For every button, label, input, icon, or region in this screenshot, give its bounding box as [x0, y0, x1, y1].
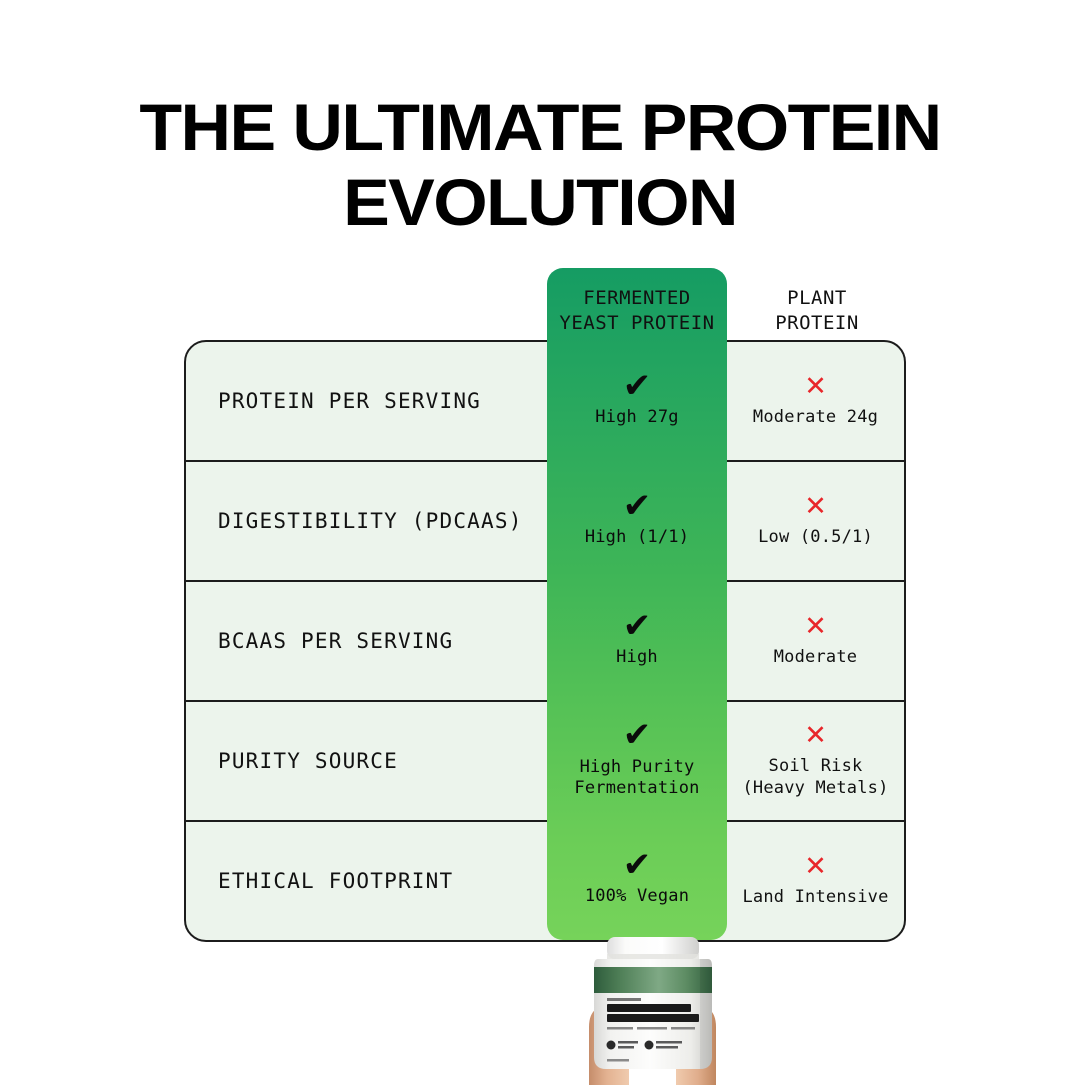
page-title: THE ULTIMATE PROTEIN EVOLUTION: [0, 96, 1080, 233]
featured-column-cells: ✔ High 27g ✔ High (1/1) ✔ High ✔ High Pu…: [547, 340, 727, 940]
featured-column-highlight: ✔ High 27g ✔ High (1/1) ✔ High ✔ High Pu…: [547, 268, 727, 940]
table-row: DIGESTIBILITY (PDCAAS) ✕ Low (0.5/1): [186, 462, 904, 582]
featured-value: High: [616, 647, 658, 669]
table-row: PURITY SOURCE ✕ Soil Risk (Heavy Metals): [186, 702, 904, 822]
check-icon: ✔: [623, 720, 652, 751]
table-row: PROTEIN PER SERVING ✕ Moderate 24g: [186, 342, 904, 462]
featured-value: 100% Vegan: [585, 886, 689, 908]
compare-cell: ✕ Moderate: [727, 582, 904, 700]
product-bottle-in-hands-illustration: [545, 935, 760, 1085]
compare-value: Moderate 24g: [753, 407, 878, 429]
compare-value: Low (0.5/1): [758, 527, 873, 549]
featured-value: High Purity Fermentation: [574, 757, 699, 801]
cross-icon: ✕: [804, 722, 827, 749]
check-icon: ✔: [623, 611, 652, 642]
row-label: ETHICAL FOOTPRINT: [186, 822, 547, 940]
cross-icon: ✕: [804, 853, 827, 880]
row-label: BCAAS PER SERVING: [186, 582, 547, 700]
row-label: PURITY SOURCE: [186, 702, 547, 820]
column-header-plant-protein: PLANT PROTEIN: [727, 286, 907, 336]
bottle-green-band: [594, 967, 712, 993]
cross-icon: ✕: [804, 373, 827, 400]
featured-cell: ✔ High: [547, 580, 727, 700]
compare-cell: ✕ Low (0.5/1): [727, 462, 904, 580]
featured-cell: ✔ 100% Vegan: [547, 820, 727, 938]
check-icon: ✔: [623, 850, 652, 881]
featured-cell: ✔ High (1/1): [547, 460, 727, 580]
compare-value: Land Intensive: [742, 887, 888, 909]
bottle-label-line-1: [607, 1004, 691, 1012]
compare-cell: ✕ Moderate 24g: [727, 342, 904, 460]
product-image: [545, 935, 760, 1085]
compare-value: Soil Risk (Heavy Metals): [742, 756, 888, 800]
featured-value: High (1/1): [585, 527, 689, 549]
compare-cell: ✕ Land Intensive: [727, 822, 904, 940]
cross-icon: ✕: [804, 493, 827, 520]
featured-cell: ✔ High 27g: [547, 340, 727, 460]
comparison-table: PROTEIN PER SERVING ✕ Moderate 24g DIGES…: [184, 340, 906, 942]
column-header-fermented-yeast-protein: FERMENTED YEAST PROTEIN: [547, 286, 727, 336]
page-title-line-1: THE ULTIMATE PROTEIN: [0, 96, 1080, 159]
row-label: DIGESTIBILITY (PDCAAS): [186, 462, 547, 580]
table-row: BCAAS PER SERVING ✕ Moderate: [186, 582, 904, 702]
bottle-cap: [607, 937, 699, 959]
table-row: ETHICAL FOOTPRINT ✕ Land Intensive: [186, 822, 904, 940]
bottle-label-line-2: [607, 1014, 699, 1022]
bottle-body: [594, 959, 712, 1069]
compare-value: Moderate: [774, 647, 857, 669]
featured-value: High 27g: [595, 407, 678, 429]
cross-icon: ✕: [804, 613, 827, 640]
check-icon: ✔: [623, 491, 652, 522]
compare-cell: ✕ Soil Risk (Heavy Metals): [727, 702, 904, 820]
page-title-line-2: EVOLUTION: [0, 171, 1080, 234]
check-icon: ✔: [623, 371, 652, 402]
featured-cell: ✔ High Purity Fermentation: [547, 700, 727, 820]
row-label: PROTEIN PER SERVING: [186, 342, 547, 460]
